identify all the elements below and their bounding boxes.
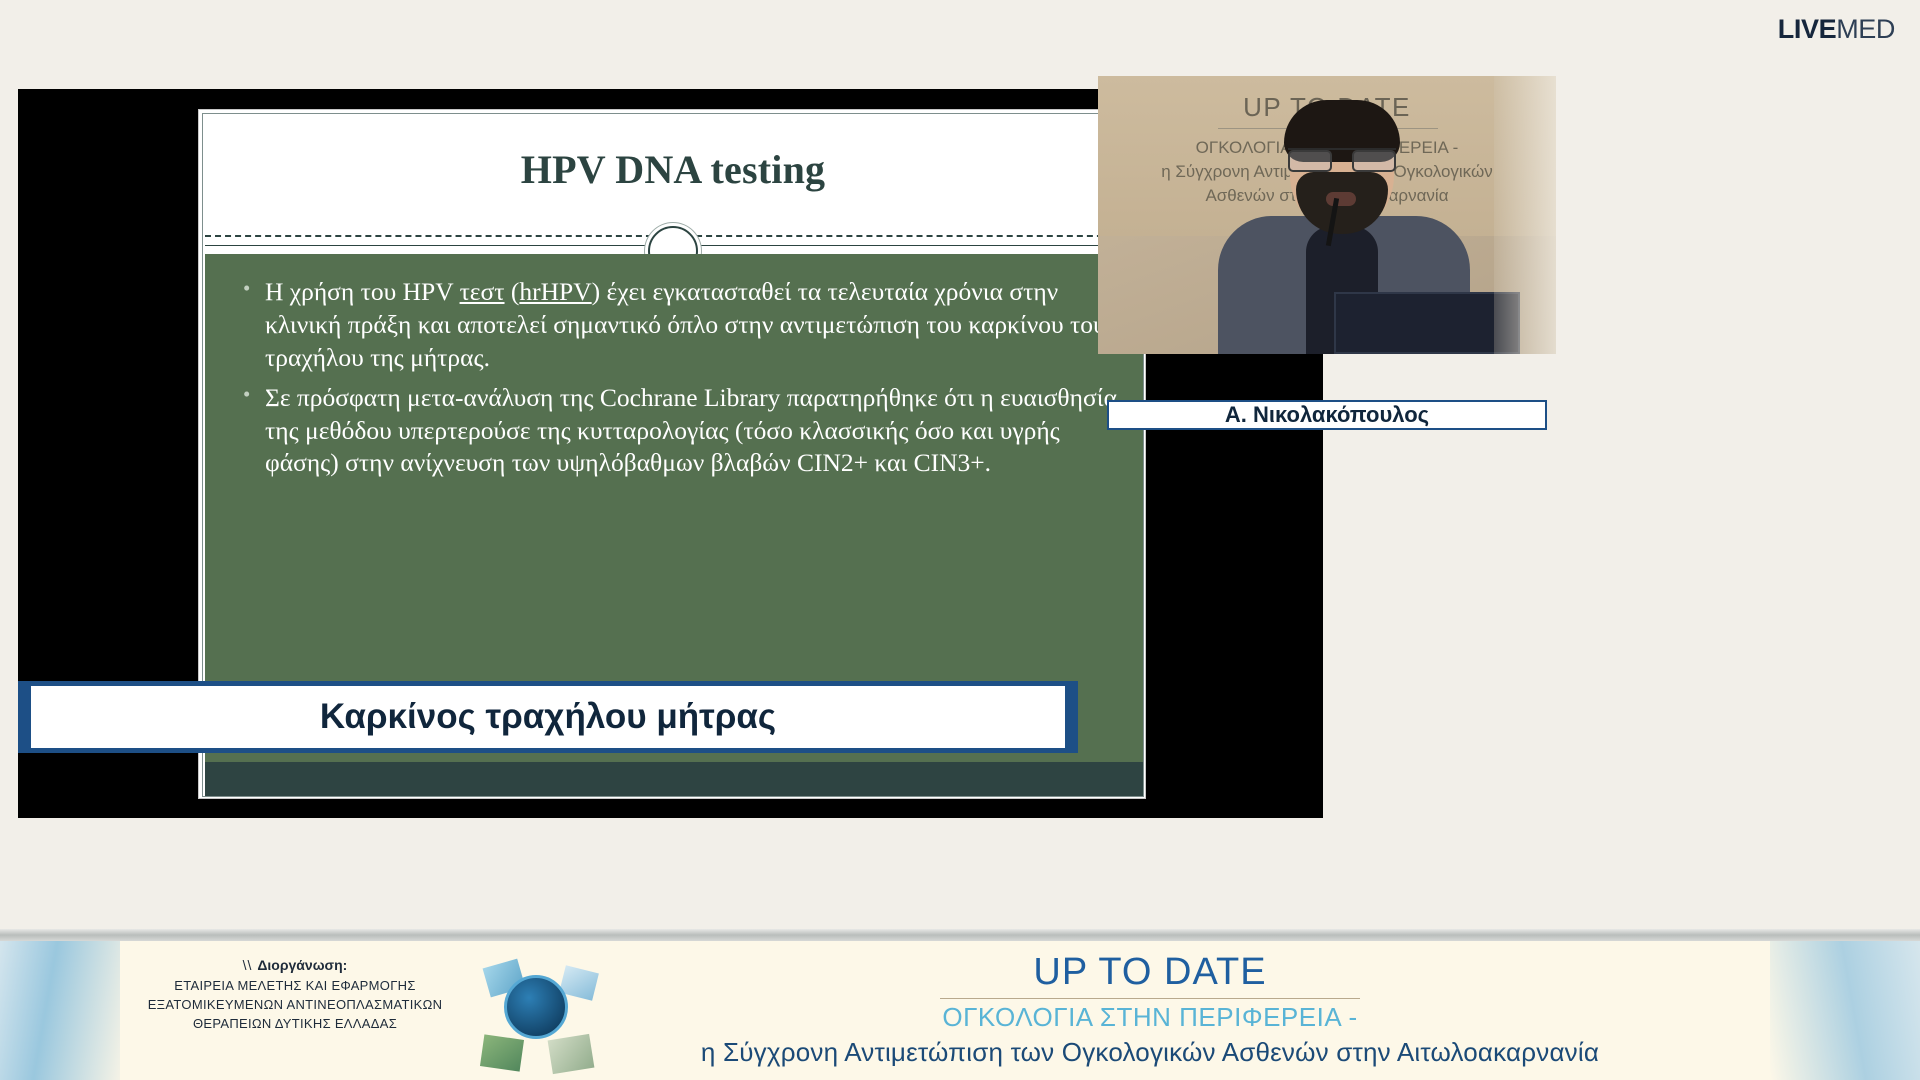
- organizer-line-3: ΘΕΡΑΠΕΙΩΝ ΔΥΤΙΚΗΣ ΕΛΛΑΔΑΣ: [130, 1015, 460, 1034]
- livemed-logo-med: MED: [1836, 14, 1895, 44]
- stage: HPV DNA testing Η χρήση του HPV τεστ (hr…: [0, 57, 1920, 937]
- slide-bullet-item: Η χρήση του HPV τεστ (hrHPV) έχει εγκατα…: [239, 276, 1127, 375]
- video-right-curtain: [1494, 76, 1556, 354]
- slide-title: HPV DNA testing: [203, 146, 1143, 193]
- speaker-glasses: [1288, 148, 1396, 170]
- event-title-rule: [940, 998, 1360, 999]
- session-title-inner: Καρκίνος τραχήλου μήτρας: [31, 686, 1065, 748]
- event-branding-band: \\ Διοργάνωση: ΕΤΑΙΡΕΙΑ ΜΕΛΕΤΗΣ ΚΑΙ ΕΦΑΡ…: [0, 941, 1920, 1080]
- livemed-logo-live: LIVE: [1778, 14, 1836, 44]
- bullet-underlined-term: τεστ: [460, 277, 505, 306]
- organizer-heading: \\ Διοργάνωση:: [130, 957, 460, 973]
- glasses-left-lens: [1288, 150, 1332, 172]
- bullet-text: Σε πρόσφατη μετα-ανάλυση της Cochrane Li…: [265, 383, 1117, 478]
- bottom-separator: [0, 929, 1920, 941]
- band-left-watercolor: [0, 941, 120, 1080]
- organizer-heading-label: Διοργάνωση:: [257, 957, 347, 973]
- livemed-logo: LIVEMED: [1778, 14, 1895, 45]
- organizer-line-2: ΕΞΑΤΟΜΙΚΕΥΜΕΝΩΝ ΑΝΤΙΝΕΟΠΛΑΣΜΑΤΙΚΩΝ: [130, 996, 460, 1015]
- event-brand-block: UP TO DATE ΟΓΚΟΛΟΓΙΑ ΣΤΗΝ ΠΕΡΙΦΕΡΕΙΑ - η…: [500, 951, 1800, 1068]
- speaker-name: Α. Νικολακόπουλος: [1225, 402, 1429, 428]
- speaker-laptop: [1334, 292, 1520, 354]
- event-tagline: η Σύγχρονη Αντιμετώπιση των Ογκολογικών …: [500, 1037, 1800, 1068]
- bullet-underlined-term: hrHPV: [519, 277, 591, 306]
- slide-footer-band: [205, 762, 1143, 796]
- organizer-block: \\ Διοργάνωση: ΕΤΑΙΡΕΙΑ ΜΕΛΕΤΗΣ ΚΑΙ ΕΦΑΡ…: [130, 957, 460, 1034]
- speaker-mouth: [1326, 192, 1356, 206]
- organizer-slashes: \\: [243, 957, 258, 973]
- slide-bullet-list: Η χρήση του HPV τεστ (hrHPV) έχει εγκατα…: [239, 276, 1127, 487]
- event-subtitle: ΟΓΚΟΛΟΓΙΑ ΣΤΗΝ ΠΕΡΙΦΕΡΕΙΑ -: [500, 1002, 1800, 1033]
- glasses-right-lens: [1352, 150, 1396, 172]
- session-title-bar: Καρκίνος τραχήλου μήτρας: [18, 681, 1078, 753]
- bullet-text: (: [505, 277, 520, 306]
- top-bar: LIVEMED: [0, 0, 1920, 57]
- speaker-video-panel[interactable]: UP TO DATE ΟΓΚΟΛΟΓΙΑ ΣΤΗΝ ΠΕΡΙΦΕΡΕΙΑ - η…: [1098, 76, 1556, 354]
- bullet-text: Η χρήση του HPV: [265, 277, 460, 306]
- speaker-name-bar: Α. Νικολακόπουλος: [1107, 400, 1547, 430]
- slide-bullet-item: Σε πρόσφατη μετα-ανάλυση της Cochrane Li…: [239, 382, 1127, 481]
- event-title: UP TO DATE: [500, 951, 1800, 994]
- organizer-line-1: ΕΤΑΙΡΕΙΑ ΜΕΛΕΤΗΣ ΚΑΙ ΕΦΑΡΜΟΓΗΣ: [130, 977, 460, 996]
- session-title: Καρκίνος τραχήλου μήτρας: [320, 697, 776, 737]
